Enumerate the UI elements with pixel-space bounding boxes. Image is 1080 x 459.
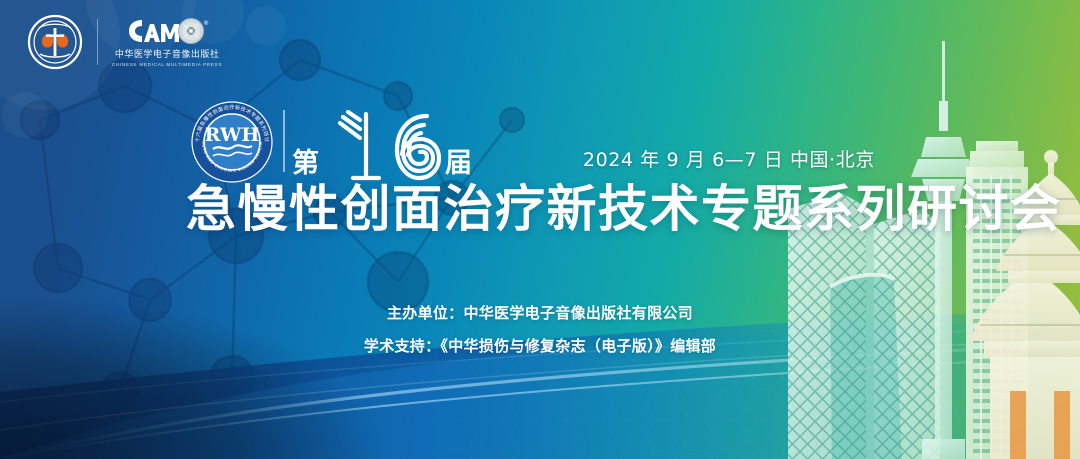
rwh-emblem-icon: 第十六届急慢性创面治疗新技术专题系列研讨会 ACUTE AND CHRONIC … <box>191 101 273 183</box>
page-title: 急慢性创面治疗新技术专题系列研讨会 <box>186 182 1062 236</box>
logo-bar: ® 中华医学电子音像出版社 CHINESE MEDICAL MULTIMEDIA… <box>27 14 222 70</box>
edition-prefix: 第 <box>292 150 319 184</box>
cma-seal-icon <box>27 14 83 70</box>
publisher-name-cn: 中华医学电子音像出版社 <box>115 47 220 60</box>
conference-banner: ® 中华医学电子音像出版社 CHINESE MEDICAL MULTIMEDIA… <box>0 0 1080 459</box>
date-location: 2024 年 9 月 6—7 日 中国·北京 <box>583 145 875 172</box>
publisher-logo: ® 中华医学电子音像出版社 CHINESE MEDICAL MULTIMEDIA… <box>112 17 222 67</box>
academic-support-line: 学术支持：《中华损伤与修复杂志（电子版）》编辑部 <box>0 339 1080 354</box>
credits-block: 主办单位：中华医学电子音像出版社有限公司 学术支持：《中华损伤与修复杂志（电子版… <box>0 306 1080 354</box>
publisher-name-en: CHINESE MEDICAL MULTIMEDIA PRESS <box>112 62 222 67</box>
beijing-skyline <box>770 39 1080 459</box>
organizer-line: 主办单位：中华医学电子音像出版社有限公司 <box>0 306 1080 321</box>
svg-text:RWH: RWH <box>205 124 260 146</box>
edition-numeral-16 <box>323 100 441 184</box>
edition-suffix: 届 <box>445 150 472 184</box>
emblem-title-divider <box>283 110 285 172</box>
cama-disc-icon: ® <box>125 17 209 45</box>
logo-divider <box>97 19 98 65</box>
svg-text:®: ® <box>203 20 209 27</box>
edition-number: 第 届 <box>292 100 472 184</box>
